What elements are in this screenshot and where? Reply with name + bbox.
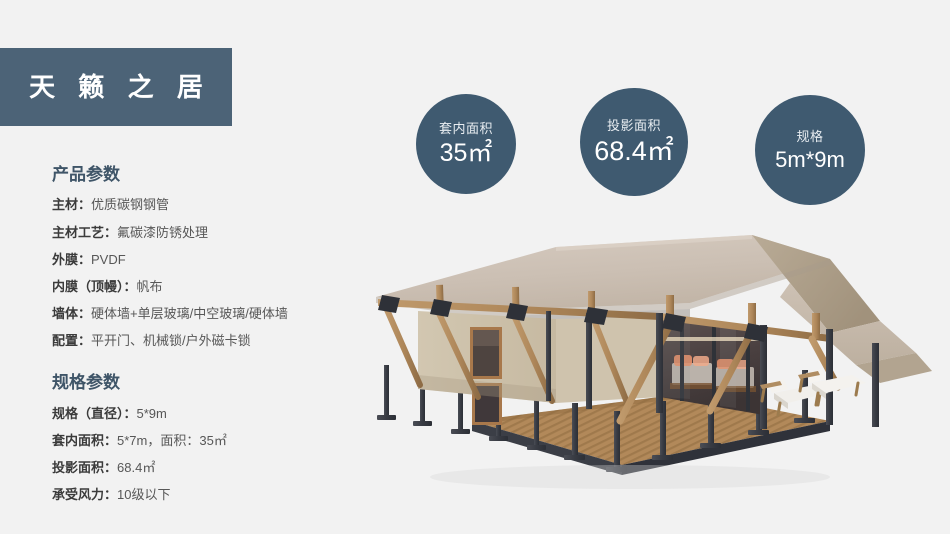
badge-label: 规格 <box>796 130 823 143</box>
spec-row: 规格（直径）：5*9m <box>52 404 382 424</box>
wall-window <box>470 327 502 379</box>
badge-dimensions: 规格 5m*9m <box>755 95 865 205</box>
spec-label: 套内面积： <box>52 433 117 448</box>
spec-value: 5*9m <box>137 406 167 421</box>
badge-number: 35 <box>440 139 468 167</box>
spec-label: 配置： <box>52 333 91 348</box>
spec-label: 规格（直径）： <box>52 406 137 421</box>
spec-row: 主材：优质碳钢钢管 <box>52 195 382 215</box>
lounge-chairs <box>760 369 866 415</box>
spec-row: 套内面积：5*7m，面积：35㎡ <box>52 431 382 451</box>
badge-projected-area: 投影面积 68.4㎡ <box>580 88 688 196</box>
page-title: 天 籁 之 居 <box>21 74 211 100</box>
spec-row: 内膜（顶幔）：帆布 <box>52 277 382 297</box>
spec-row: 投影面积：68.4㎡ <box>52 458 382 478</box>
section-heading-product: 产品参数 <box>52 165 382 185</box>
badge-unit: ㎡ <box>647 136 674 166</box>
section-heading-spec: 规格参数 <box>52 373 382 393</box>
spec-label: 内膜（顶幔）： <box>52 279 137 294</box>
deck-platform <box>472 393 830 475</box>
tent-house-render: 帐篷酒店 XUELI TENT <box>360 225 950 525</box>
spec-value: 10级以下 <box>117 487 170 502</box>
page-root: 天 籁 之 居 产品参数 主材：优质碳钢钢管 主材工艺：氟碳漆防锈处理 外膜：P… <box>0 0 950 534</box>
spec-row: 外膜：PVDF <box>52 250 382 270</box>
badge-label: 套内面积 <box>439 122 493 135</box>
badge-interior-area: 套内面积 35㎡ <box>416 94 516 194</box>
title-banner: 天 籁 之 居 <box>0 48 232 126</box>
badge-number: 5m*9m <box>775 147 845 172</box>
section-product-params: 产品参数 主材：优质碳钢钢管 主材工艺：氟碳漆防锈处理 外膜：PVDF 内膜（顶… <box>52 165 382 351</box>
spec-value: 68.4㎡ <box>117 460 155 475</box>
spec-label: 承受风力： <box>52 487 117 502</box>
spec-label: 主材工艺： <box>52 225 117 240</box>
spec-value: 氟碳漆防锈处理 <box>117 225 208 240</box>
spec-row: 承受风力：10级以下 <box>52 485 382 505</box>
spec-value: 硬体墙+单层玻璃/中空玻璃/硬体墙 <box>91 306 288 321</box>
spec-value: 平开门、机械锁/户外磁卡锁 <box>91 333 251 348</box>
spec-label: 外膜： <box>52 252 91 267</box>
spec-value: 5*7m，面积：35㎡ <box>117 433 227 448</box>
badge-unit: ㎡ <box>467 139 492 167</box>
badge-label: 投影面积 <box>607 119 661 132</box>
section-spec-params: 规格参数 规格（直径）：5*9m 套内面积：5*7m，面积：35㎡ 投影面积：6… <box>52 373 382 505</box>
spec-row: 配置：平开门、机械锁/户外磁卡锁 <box>52 331 382 351</box>
spec-row: 主材工艺：氟碳漆防锈处理 <box>52 223 382 243</box>
spec-value: 优质碳钢钢管 <box>91 197 169 212</box>
badge-number: 68.4 <box>594 136 647 166</box>
spec-label: 投影面积： <box>52 460 117 475</box>
badge-value: 68.4㎡ <box>594 138 674 165</box>
spec-row: 墙体：硬体墙+单层玻璃/中空玻璃/硬体墙 <box>52 304 382 324</box>
spec-label: 墙体： <box>52 306 91 321</box>
spec-label: 主材： <box>52 197 91 212</box>
spec-value: 帆布 <box>137 279 163 294</box>
badge-value: 5m*9m <box>775 149 845 171</box>
spec-panel: 产品参数 主材：优质碳钢钢管 主材工艺：氟碳漆防锈处理 外膜：PVDF 内膜（顶… <box>52 165 382 521</box>
spec-value: PVDF <box>91 252 126 267</box>
badge-value: 35㎡ <box>440 141 493 166</box>
